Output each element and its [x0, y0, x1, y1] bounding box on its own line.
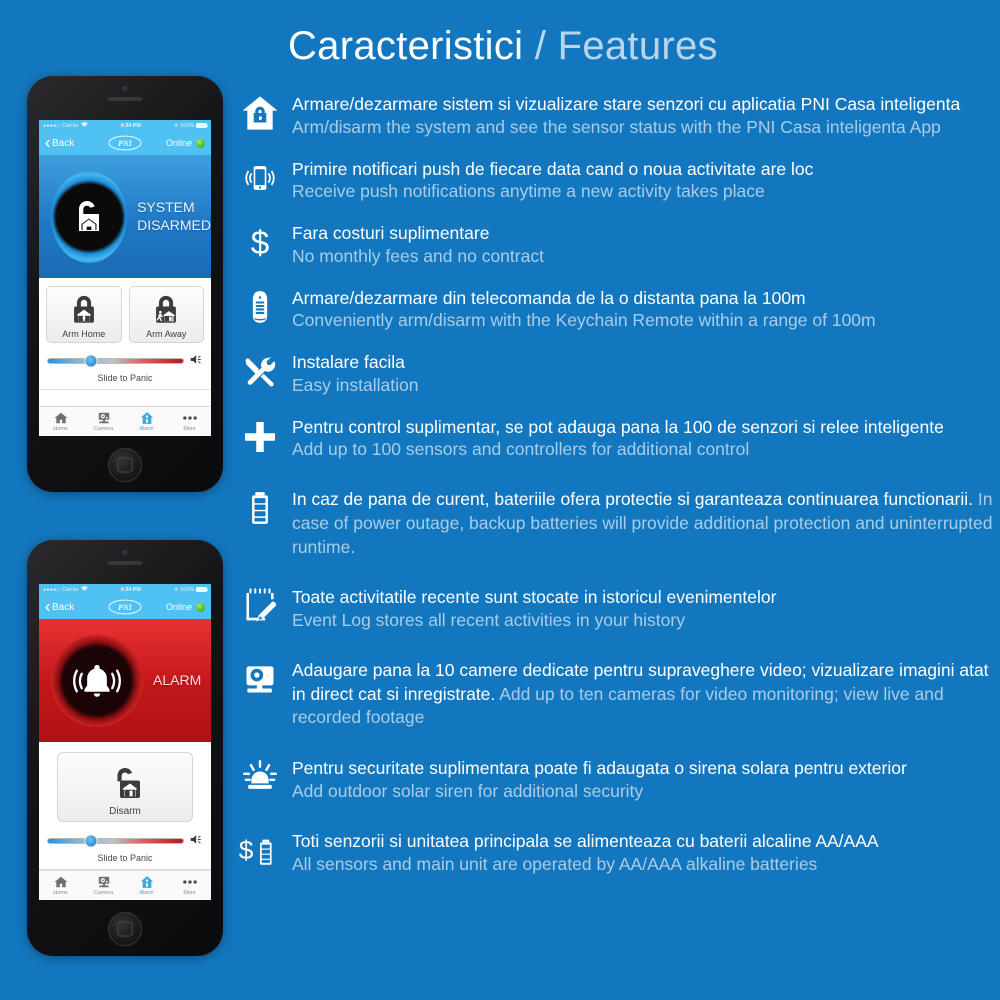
tab-home[interactable]: Home	[39, 407, 82, 436]
feature-text-mixed: Adaugare pana la 10 camere dedicate pent…	[292, 660, 989, 728]
battery-icon	[196, 587, 207, 592]
arm-home-label: Arm Home	[62, 329, 105, 339]
phone-mockup-alarm: ●●●●○ Carrier 4:34 PM ✳ 100% Back	[27, 540, 223, 956]
battery-icon	[232, 487, 288, 527]
back-button[interactable]: Back	[45, 138, 74, 149]
feature-text-ro: Primire notificari push de fiecare data …	[292, 158, 813, 181]
tab-home-label: Home	[53, 890, 67, 896]
feature-item: $ Fara costuri suplimentare No monthly f…	[232, 221, 1000, 268]
system-state-line2: DISARMED	[137, 217, 211, 233]
nav-bar: Back PNI Online	[39, 595, 211, 619]
feature-text-ro: Armare/dezarmare din telecomanda de la o…	[292, 287, 876, 310]
camera-icon	[97, 875, 111, 889]
padlock-person-home-icon	[67, 293, 101, 327]
panic-slider-knob[interactable]	[85, 835, 98, 848]
battery-percent-label: 100%	[180, 123, 194, 129]
pni-logo: PNI	[108, 135, 142, 151]
arm-home-button[interactable]: Arm Home	[46, 286, 122, 343]
feature-list: Armare/dezarmare sistem si vizualizare s…	[232, 92, 1000, 893]
panic-slider-label: Slide to Panic	[47, 853, 203, 863]
feature-item: Toate activitatile recente sunt stocate …	[232, 585, 1000, 632]
feature-item: In caz de pana de curent, bateriile ofer…	[232, 487, 1000, 559]
speaker-icon	[190, 352, 203, 370]
tab-bar: Home Camera Alarm	[39, 406, 211, 436]
disarm-button-wrap: Disarm	[39, 742, 211, 828]
page-title-ro: Caracteristici	[288, 24, 523, 68]
feature-text-en: No monthly fees and no contract	[292, 245, 544, 268]
feature-text-mixed: In caz de pana de curent, bateriile ofer…	[292, 489, 992, 557]
siren-icon	[232, 756, 288, 796]
tab-alarm[interactable]: Alarm	[125, 871, 168, 900]
tab-more[interactable]: More	[168, 871, 211, 900]
feature-text-en: Conveniently arm/disarm with the Keychai…	[292, 309, 876, 332]
panic-slider-section: Slide to Panic	[39, 828, 211, 870]
camera-icon	[97, 411, 111, 425]
feature-text-ro: Toti senzorii si unitatea principala se …	[292, 830, 879, 853]
page-title-en: Features	[558, 24, 718, 68]
notepad-pencil-icon	[232, 585, 288, 625]
signal-dots-icon: ●●●●○	[43, 587, 60, 593]
page-title-separator: /	[523, 24, 557, 68]
speaker-icon	[190, 832, 203, 850]
alarm-home-icon	[140, 411, 154, 425]
phone-notification-icon	[232, 157, 288, 197]
svg-text:$: $	[251, 225, 270, 261]
tab-camera[interactable]: Camera	[82, 871, 125, 900]
system-state-label: SYSTEM DISARMED	[137, 199, 211, 234]
tab-home-label: Home	[53, 426, 67, 432]
padlock-person-away-icon	[149, 293, 183, 327]
system-state-label: ALARM	[153, 672, 201, 690]
feature-item: Armare/dezarmare din telecomanda de la o…	[232, 286, 1000, 333]
feature-text-ro: Pentru securitate suplimentara poate fi …	[292, 757, 907, 780]
tab-home[interactable]: Home	[39, 871, 82, 900]
online-indicator-dot	[196, 139, 205, 148]
tab-camera[interactable]: Camera	[82, 407, 125, 436]
open-padlock-house-icon	[103, 763, 147, 803]
clock-label: 4:34 PM	[120, 587, 140, 593]
feature-text-en: Easy installation	[292, 374, 418, 397]
app-screen-disarmed: ●●●●○ Carrier 4:34 PM ✳ 100% Back	[39, 120, 211, 436]
system-state-line1: ALARM	[153, 672, 201, 688]
phone-mockup-disarmed: ●●●●○ Carrier 4:34 PM ✳ 100% Back	[27, 76, 223, 492]
feature-item: Primire notificari push de fiecare data …	[232, 157, 1000, 204]
tab-bar: Home Camera Alarm	[39, 870, 211, 900]
connection-status: Online	[166, 138, 205, 148]
disarm-button[interactable]: Disarm	[57, 752, 193, 822]
app-screen-alarm: ●●●●○ Carrier 4:34 PM ✳ 100% Back	[39, 584, 211, 900]
tab-alarm-label: Alarm	[139, 890, 153, 896]
feature-text-en: Add outdoor solar siren for additional s…	[292, 780, 907, 803]
connection-status: Online	[166, 602, 205, 612]
tab-more-label: More	[183, 426, 195, 432]
tab-more[interactable]: More	[168, 407, 211, 436]
feature-text-en: Event Log stores all recent activities i…	[292, 609, 776, 632]
bluetooth-icon: ✳	[174, 123, 179, 129]
tab-camera-label: Camera	[94, 890, 113, 896]
earpiece-speaker	[108, 561, 142, 565]
arm-away-button[interactable]: Arm Away	[129, 286, 205, 343]
home-icon	[54, 411, 68, 425]
status-badge-label: Online	[166, 138, 192, 148]
wifi-icon	[81, 586, 88, 593]
feature-text-ro: Fara costuri suplimentare	[292, 222, 544, 245]
clock-label: 4:34 PM	[120, 123, 140, 129]
feature-item: Adaugare pana la 10 camere dedicate pent…	[232, 658, 1000, 730]
tab-alarm-label: Alarm	[139, 426, 153, 432]
feature-item: Armare/dezarmare sistem si vizualizare s…	[232, 92, 1000, 139]
camera-icon	[232, 658, 288, 698]
front-camera-icon	[123, 86, 128, 91]
status-bar: ●●●●○ Carrier 4:34 PM ✳ 100%	[39, 584, 211, 595]
nav-bar: Back PNI Online	[39, 131, 211, 155]
pni-logo: PNI	[108, 599, 142, 615]
feature-text-en: Receive push notifications anytime a new…	[292, 180, 813, 203]
carrier-label: Carrier	[62, 123, 78, 129]
status-badge-label: Online	[166, 602, 192, 612]
feature-text-ro: Pentru control suplimentar, se pot adaug…	[292, 416, 944, 439]
front-camera-icon	[123, 550, 128, 555]
earpiece-speaker	[108, 97, 142, 101]
feature-item: Pentru control suplimentar, se pot adaug…	[232, 415, 1000, 462]
feature-text-en: Add up to 100 sensors and controllers fo…	[292, 438, 944, 461]
disarm-label: Disarm	[109, 806, 141, 817]
ellipsis-icon	[181, 875, 199, 889]
feature-text-ro: Armare/dezarmare sistem si vizualizare s…	[292, 93, 960, 116]
wifi-icon	[81, 122, 88, 129]
panic-slider-track[interactable]	[47, 838, 184, 844]
status-bar: ●●●●○ Carrier 4:34 PM ✳ 100%	[39, 120, 211, 131]
back-button[interactable]: Back	[45, 602, 74, 613]
feature-item: Pentru securitate suplimentara poate fi …	[232, 756, 1000, 803]
feature-sheet: Caracteristici / Features Armare/dezarma…	[0, 0, 1000, 1000]
panic-slider-knob[interactable]	[85, 355, 98, 368]
ringing-bell-icon	[51, 635, 143, 727]
page-title: Caracteristici / Features	[288, 24, 718, 69]
tab-camera-label: Camera	[94, 426, 113, 432]
plus-icon	[232, 415, 288, 457]
feature-text-en: Arm/disarm the system and see the sensor…	[292, 116, 960, 139]
arm-buttons-row: Arm Home Arm Away	[39, 278, 211, 348]
feature-item: Instalare facila Easy installation	[232, 350, 1000, 397]
house-lock-icon	[232, 92, 288, 132]
system-state-panel: ALARM	[39, 619, 211, 742]
tab-alarm[interactable]: Alarm	[125, 407, 168, 436]
home-button[interactable]	[108, 448, 142, 482]
alarm-home-icon	[140, 875, 154, 889]
tools-icon	[232, 350, 288, 390]
online-indicator-dot	[196, 603, 205, 612]
home-icon	[54, 875, 68, 889]
panic-slider-label: Slide to Panic	[47, 373, 203, 383]
feature-text-en: All sensors and main unit are operated b…	[292, 853, 879, 876]
back-button-label: Back	[52, 602, 74, 613]
battery-percent-label: 100%	[180, 587, 194, 593]
tab-more-label: More	[183, 890, 195, 896]
back-button-label: Back	[52, 138, 74, 149]
svg-text:PNI: PNI	[118, 139, 133, 148]
dollar-battery-icon: $	[232, 829, 288, 873]
keychain-remote-icon	[232, 286, 288, 326]
svg-text:PNI: PNI	[118, 603, 133, 612]
battery-icon	[196, 123, 207, 128]
svg-text:$: $	[239, 835, 254, 865]
system-state-panel: SYSTEM DISARMED	[39, 155, 211, 278]
arm-away-label: Arm Away	[146, 329, 186, 339]
dollar-icon: $	[232, 221, 288, 261]
bluetooth-icon: ✳	[174, 587, 179, 593]
feature-text-ro: Toate activitatile recente sunt stocate …	[292, 586, 776, 609]
signal-dots-icon: ●●●●○	[43, 123, 60, 129]
feature-item: $ Toti senzorii si unitatea principala s…	[232, 829, 1000, 876]
open-padlock-house-icon	[51, 171, 127, 263]
system-state-line1: SYSTEM	[137, 199, 195, 215]
panic-slider-track[interactable]	[47, 358, 184, 364]
feature-text-ro: Instalare facila	[292, 351, 418, 374]
carrier-label: Carrier	[62, 587, 78, 593]
feature-text-ro: In caz de pana de curent, bateriile ofer…	[292, 489, 973, 509]
home-button[interactable]	[108, 912, 142, 946]
ellipsis-icon	[181, 411, 199, 425]
panic-slider-section: Slide to Panic	[39, 348, 211, 390]
